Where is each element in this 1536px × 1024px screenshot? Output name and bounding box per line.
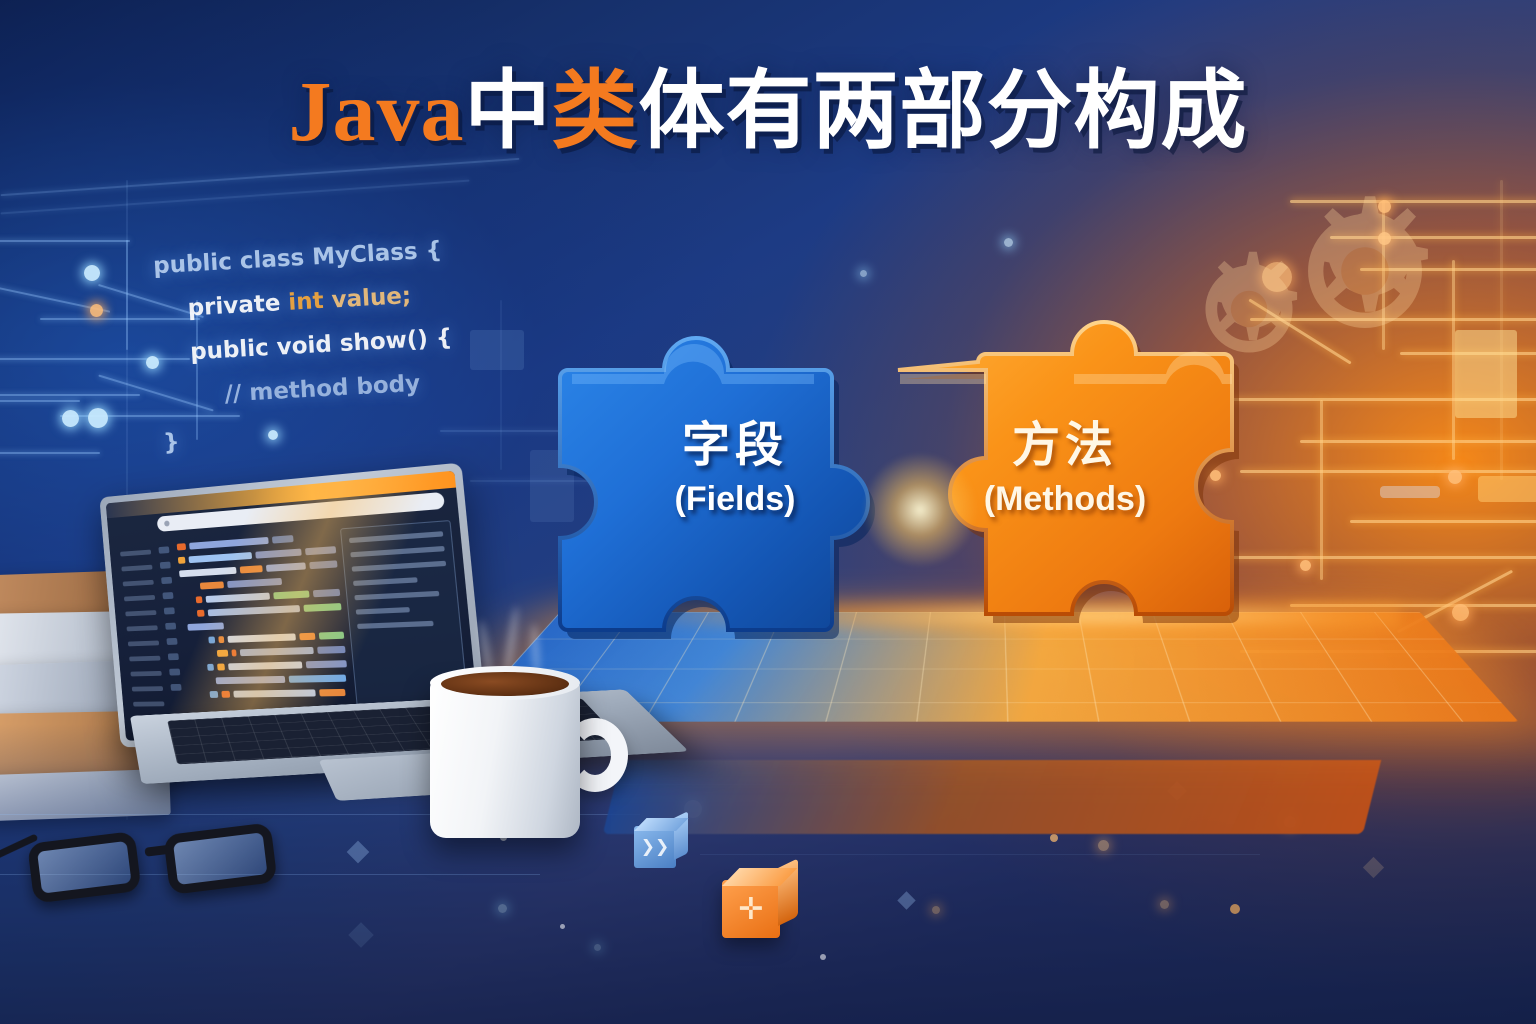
orange-cube: ✛: [722, 868, 804, 950]
title-segment-lei: 类: [552, 63, 639, 159]
title-segment-rest: 体有两部分构成: [639, 63, 1248, 159]
methods-piece[interactable]: 方法 (Methods): [890, 300, 1240, 630]
mug-body: [430, 678, 580, 838]
blue-cube-glyph: ❯❯: [634, 826, 676, 868]
platform-edge: [603, 760, 1381, 834]
fields-piece[interactable]: 字段 (Fields): [560, 300, 910, 630]
poster-canvas: Java中类体有两部分构成 public class MyClass { pri…: [0, 0, 1536, 1024]
blue-cube: ❯❯: [634, 818, 690, 874]
puzzle-group: 字段 (Fields): [560, 300, 1240, 660]
page-title: Java中类体有两部分构成: [0, 68, 1536, 154]
title-segment-java: Java: [289, 63, 465, 159]
coffee-mug: [430, 660, 630, 842]
coffee-surface: [441, 672, 569, 696]
title-segment-zhong: 中: [465, 63, 552, 159]
code-overlay: public class MyClass { private int value…: [152, 228, 458, 465]
orange-cube-glyph: ✛: [722, 880, 780, 938]
